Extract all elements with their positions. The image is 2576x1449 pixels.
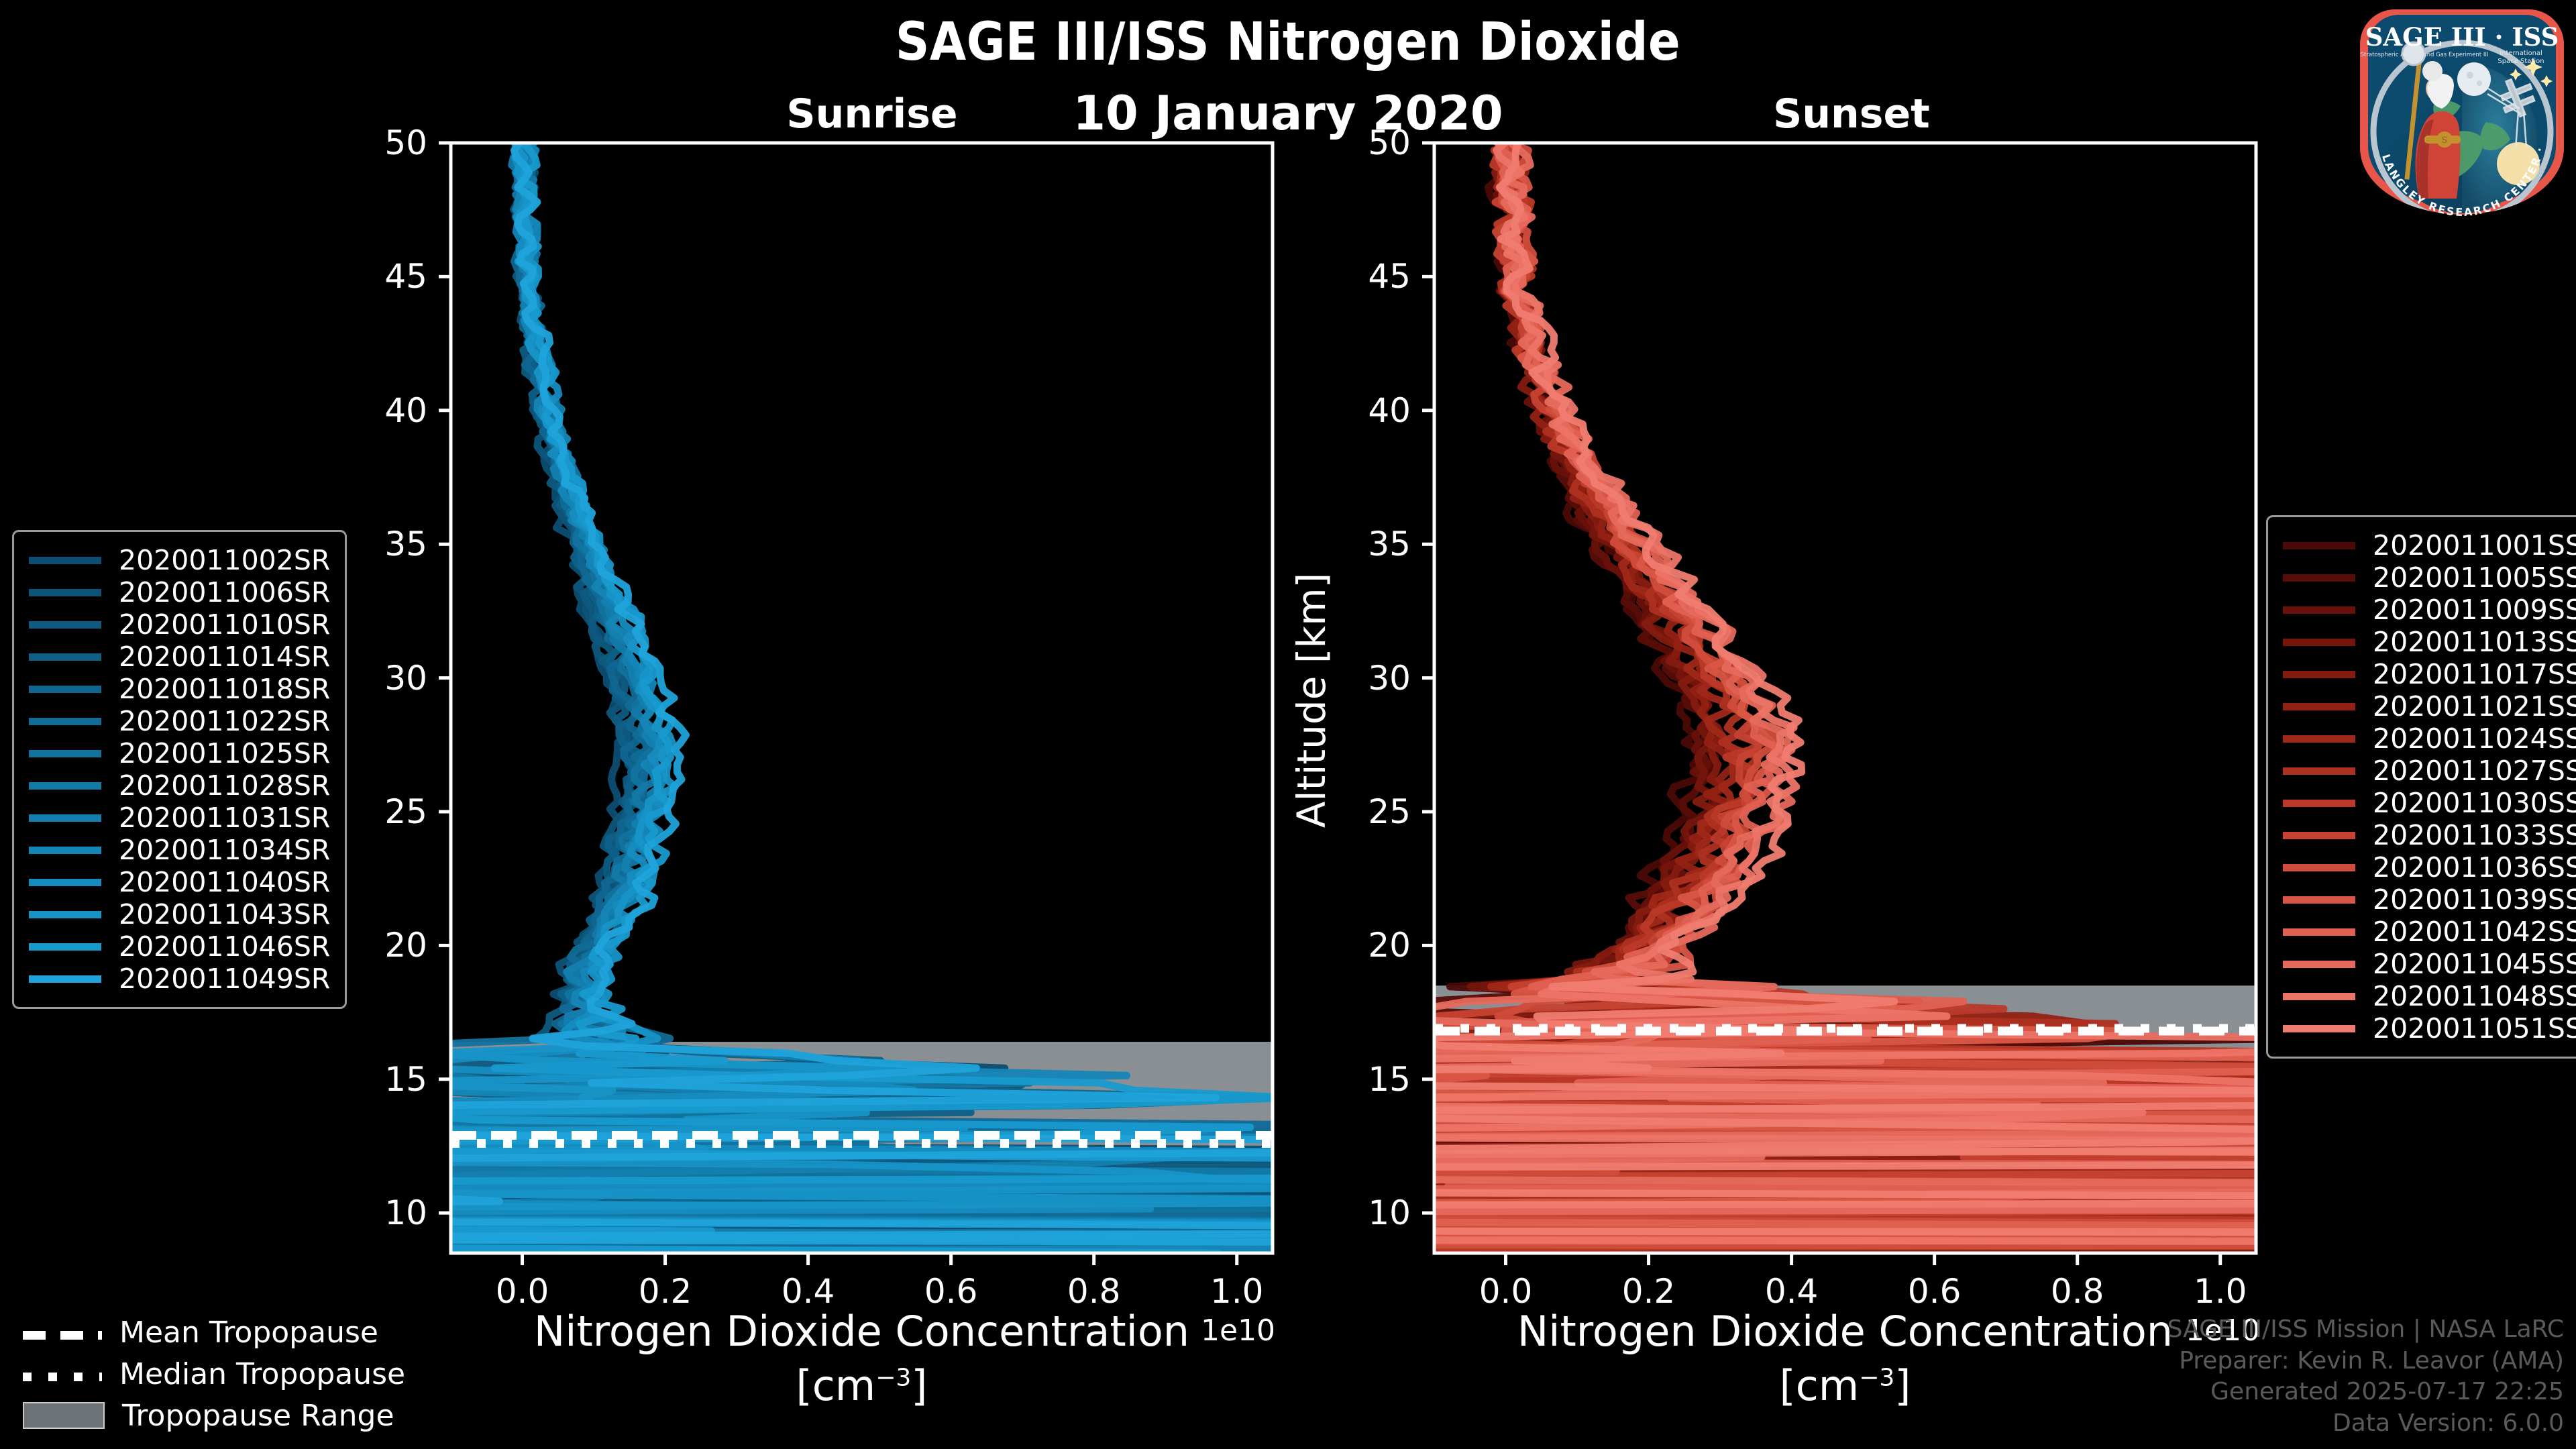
sunrise-x-unit-exponent: −3: [875, 1364, 911, 1391]
sunrise-legend-label: 2020011006SR: [119, 576, 330, 608]
sunrise-legend-item[interactable]: 2020011034SR: [29, 834, 330, 866]
sunset-legend-label: 2020011030SS: [2373, 787, 2576, 819]
credits-block: SAGE III/ISS Mission | NASA LaRCPreparer…: [2167, 1314, 2564, 1440]
sunrise-x-unit-close: ]: [911, 1361, 927, 1410]
sunrise-legend-label: 2020011028SR: [119, 769, 330, 802]
sunset-legend-color-swatch: [2283, 606, 2355, 614]
sunset-legend-item[interactable]: 2020011009SS: [2283, 594, 2576, 626]
sunset-y-axis-label: Altitude [km]: [1289, 513, 1334, 888]
sunrise-x-unit-open: [cm: [796, 1361, 876, 1410]
sunset-legend-color-swatch: [2283, 574, 2355, 582]
sunrise-legend-item[interactable]: 2020011040SR: [29, 866, 330, 898]
mean-tropopause-swatch: [23, 1331, 102, 1340]
sunrise-x-exponent-label: 1e10: [1201, 1313, 1275, 1348]
sunset-legend-item[interactable]: 2020011021SS: [2283, 690, 2576, 722]
credits-line-4: Data Version: 6.0.0: [2167, 1408, 2564, 1440]
sunset-legend-color-swatch: [2283, 800, 2355, 807]
tropopause-legend-item-mean-tropopause: Mean Tropopause: [23, 1311, 405, 1353]
sunrise-legend-label: 2020011010SR: [119, 608, 330, 641]
sunset-legend-color-swatch: [2283, 864, 2355, 871]
sunset-legend-label: 2020011001SS: [2373, 529, 2576, 561]
sunset-legend-item[interactable]: 2020011036SS: [2283, 851, 2576, 883]
sunrise-legend-color-swatch: [29, 782, 101, 790]
sunset-legend-color-swatch: [2283, 735, 2355, 743]
sunset-legend-label: 2020011027SS: [2373, 755, 2576, 787]
sunrise-legend-item[interactable]: 2020011049SR: [29, 963, 330, 995]
sunrise-legend[interactable]: 2020011002SR2020011006SR2020011010SR2020…: [12, 530, 347, 1009]
sunset-legend-label: 2020011048SS: [2373, 980, 2576, 1012]
sunrise-legend-color-swatch: [29, 879, 101, 886]
sunrise-legend-color-swatch: [29, 975, 101, 983]
sunset-x-axis-label: Nitrogen Dioxide Concentration [cm−3]: [1434, 1307, 2256, 1410]
mean-tropopause-label: Mean Tropopause: [119, 1316, 378, 1350]
sunset-legend-color-swatch: [2283, 928, 2355, 936]
sunrise-legend-color-swatch: [29, 557, 101, 564]
sunrise-legend-label: 2020011025SR: [119, 737, 330, 769]
sunset-plot-area: [0, 143, 2576, 1253]
sunset-legend-item[interactable]: 2020011027SS: [2283, 755, 2576, 787]
sunrise-legend-label: 2020011014SR: [119, 641, 330, 673]
sunset-x-unit-exponent: −3: [1859, 1364, 1894, 1391]
tropopause-range-swatch: [23, 1402, 105, 1429]
sunset-legend-item[interactable]: 2020011039SS: [2283, 883, 2576, 916]
sunset-x-unit-open: [cm: [1780, 1361, 1860, 1410]
sunrise-legend-color-swatch: [29, 653, 101, 661]
sunrise-legend-label: 2020011040SR: [119, 866, 330, 898]
sunrise-legend-item[interactable]: 2020011046SR: [29, 930, 330, 963]
sunset-legend-label: 2020011045SS: [2373, 948, 2576, 980]
sunset-legend-item[interactable]: 2020011030SS: [2283, 787, 2576, 819]
sunset-legend-label: 2020011013SS: [2373, 626, 2576, 658]
sunrise-legend-color-swatch: [29, 750, 101, 757]
sunset-legend-color-swatch: [2283, 703, 2355, 710]
tropopause-range-label: Tropopause Range: [122, 1399, 394, 1433]
sunrise-legend-color-swatch: [29, 911, 101, 918]
sunrise-legend-label: 2020011049SR: [119, 963, 330, 995]
sunset-legend-item[interactable]: 2020011048SS: [2283, 980, 2576, 1012]
sunset-legend-label: 2020011024SS: [2373, 722, 2576, 755]
sunrise-legend-color-swatch: [29, 814, 101, 822]
sunset-legend-color-swatch: [2283, 961, 2355, 968]
sunset-x-unit-close: ]: [1894, 1361, 1911, 1410]
sunrise-legend-item[interactable]: 2020011010SR: [29, 608, 330, 641]
sunset-legend-item[interactable]: 2020011042SS: [2283, 916, 2576, 948]
sunrise-legend-item[interactable]: 2020011043SR: [29, 898, 330, 930]
credits-line-3: Generated 2025-07-17 22:25: [2167, 1377, 2564, 1408]
sunset-legend-color-swatch: [2283, 639, 2355, 646]
sunrise-legend-color-swatch: [29, 943, 101, 951]
sunrise-legend-item[interactable]: 2020011018SR: [29, 673, 330, 705]
sunrise-legend-color-swatch: [29, 589, 101, 596]
sunset-legend-color-swatch: [2283, 896, 2355, 904]
sunset-legend-label: 2020011017SS: [2373, 658, 2576, 690]
sunrise-legend-label: 2020011046SR: [119, 930, 330, 963]
tropopause-legend: Mean TropopauseMedian TropopauseTropopau…: [23, 1311, 405, 1436]
sunset-legend-color-swatch: [2283, 832, 2355, 839]
sunset-legend[interactable]: 2020011001SS2020011005SS2020011009SS2020…: [2266, 515, 2576, 1059]
sunrise-legend-label: 2020011002SR: [119, 544, 330, 576]
sunset-legend-label: 2020011036SS: [2373, 851, 2576, 883]
median-tropopause-swatch: [23, 1373, 102, 1381]
sunrise-x-axis-label: Nitrogen Dioxide Concentration [cm−3]: [451, 1307, 1273, 1410]
sunrise-legend-item[interactable]: 2020011002SR: [29, 544, 330, 576]
sunrise-legend-item[interactable]: 2020011014SR: [29, 641, 330, 673]
sunset-legend-item[interactable]: 2020011033SS: [2283, 819, 2576, 851]
sunrise-legend-item[interactable]: 2020011022SR: [29, 705, 330, 737]
sunrise-legend-label: 2020011043SR: [119, 898, 330, 930]
sunset-legend-item[interactable]: 2020011051SS: [2283, 1012, 2576, 1044]
nitrogen-dioxide-profile-chart: [0, 0, 2576, 1449]
sunrise-legend-item[interactable]: 2020011031SR: [29, 802, 330, 834]
sunset-legend-item[interactable]: 2020011017SS: [2283, 658, 2576, 690]
sunset-legend-item[interactable]: 2020011001SS: [2283, 529, 2576, 561]
sunrise-legend-color-swatch: [29, 686, 101, 693]
sunrise-legend-color-swatch: [29, 718, 101, 725]
sunset-legend-color-swatch: [2283, 767, 2355, 775]
sunset-legend-item[interactable]: 2020011024SS: [2283, 722, 2576, 755]
sunrise-legend-label: 2020011034SR: [119, 834, 330, 866]
sunset-legend-color-swatch: [2283, 671, 2355, 678]
sunset-legend-label: 2020011039SS: [2373, 883, 2576, 916]
sunset-legend-item[interactable]: 2020011013SS: [2283, 626, 2576, 658]
sunset-legend-item[interactable]: 2020011005SS: [2283, 561, 2576, 594]
sunset-legend-label: 2020011009SS: [2373, 594, 2576, 626]
credits-line-2: Preparer: Kevin R. Leavor (AMA): [2167, 1346, 2564, 1377]
sunrise-legend-color-swatch: [29, 621, 101, 629]
sunset-legend-label: 2020011042SS: [2373, 916, 2576, 948]
sunrise-legend-item[interactable]: 2020011028SR: [29, 769, 330, 802]
tropopause-legend-item-tropopause-range: Tropopause Range: [23, 1395, 405, 1436]
sunrise-x-axis-label-line1: Nitrogen Dioxide Concentration: [534, 1307, 1189, 1356]
sunset-legend-color-swatch: [2283, 1025, 2355, 1032]
sunrise-legend-item[interactable]: 2020011025SR: [29, 737, 330, 769]
sunrise-legend-color-swatch: [29, 847, 101, 854]
median-tropopause-label: Median Tropopause: [119, 1357, 405, 1391]
tropopause-legend-item-median-tropopause: Median Tropopause: [23, 1353, 405, 1395]
sunset-legend-item[interactable]: 2020011045SS: [2283, 948, 2576, 980]
sunset-legend-color-swatch: [2283, 542, 2355, 549]
sunset-legend-label: 2020011005SS: [2373, 561, 2576, 594]
sunset-x-axis-label-line1: Nitrogen Dioxide Concentration: [1517, 1307, 2173, 1356]
sunset-legend-label: 2020011033SS: [2373, 819, 2576, 851]
sunset-legend-label: 2020011051SS: [2373, 1012, 2576, 1044]
sunrise-legend-label: 2020011018SR: [119, 673, 330, 705]
credits-line-1: SAGE III/ISS Mission | NASA LaRC: [2167, 1314, 2564, 1346]
sunrise-legend-item[interactable]: 2020011006SR: [29, 576, 330, 608]
sunrise-legend-label: 2020011022SR: [119, 705, 330, 737]
sunset-legend-label: 2020011021SS: [2373, 690, 2576, 722]
sunrise-legend-label: 2020011031SR: [119, 802, 330, 834]
sunset-legend-color-swatch: [2283, 993, 2355, 1000]
